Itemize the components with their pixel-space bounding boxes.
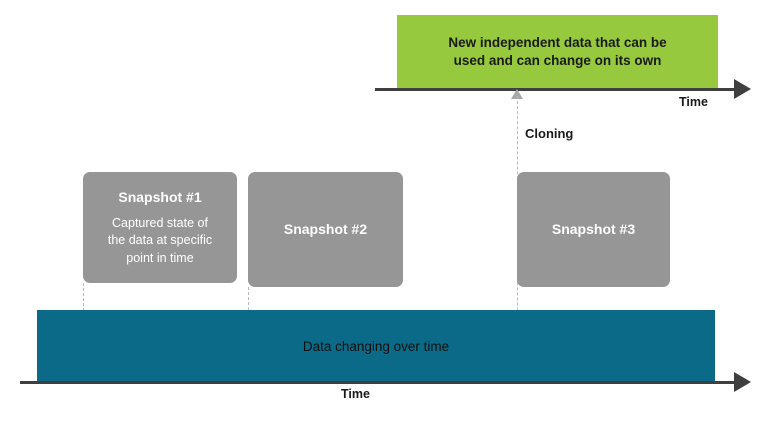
snapshot-1-description: Captured state of the data at specific p… <box>108 215 212 268</box>
snapshot-box-1: Snapshot #1 Captured state of the data a… <box>83 172 237 283</box>
snapshot-box-2: Snapshot #2 <box>248 172 403 287</box>
arrow-right-icon <box>734 372 751 392</box>
clone-timeline-axis-label: Time <box>679 95 708 109</box>
cloning-label: Cloning <box>525 126 573 141</box>
snapshot-2-title: Snapshot #2 <box>284 220 367 238</box>
diagram-canvas: New independent data that can be used an… <box>0 0 768 433</box>
snapshot-box-3: Snapshot #3 <box>517 172 670 287</box>
clone-timeline-axis <box>375 88 735 91</box>
arrow-right-icon <box>734 79 751 99</box>
snapshot-3-title: Snapshot #3 <box>552 220 635 238</box>
data-timeline-bar-label: Data changing over time <box>303 339 449 354</box>
data-timeline-axis-label: Time <box>341 387 370 401</box>
snapshot-1-title: Snapshot #1 <box>118 188 201 206</box>
data-timeline-bar: Data changing over time <box>37 310 715 382</box>
data-timeline-axis <box>20 381 735 384</box>
clone-data-box-label: New independent data that can be used an… <box>448 34 666 70</box>
clone-data-box: New independent data that can be used an… <box>397 15 718 89</box>
